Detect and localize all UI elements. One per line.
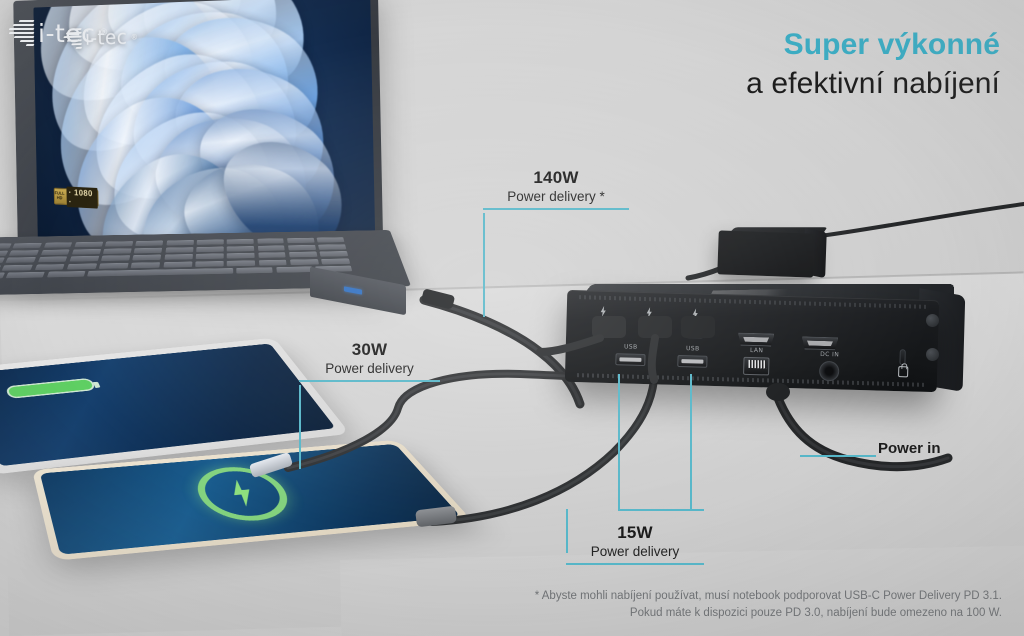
product-marketing-image: i-tec ® FULLHD · 1080 · [0, 0, 1024, 636]
vignette-overlay [0, 0, 1024, 636]
